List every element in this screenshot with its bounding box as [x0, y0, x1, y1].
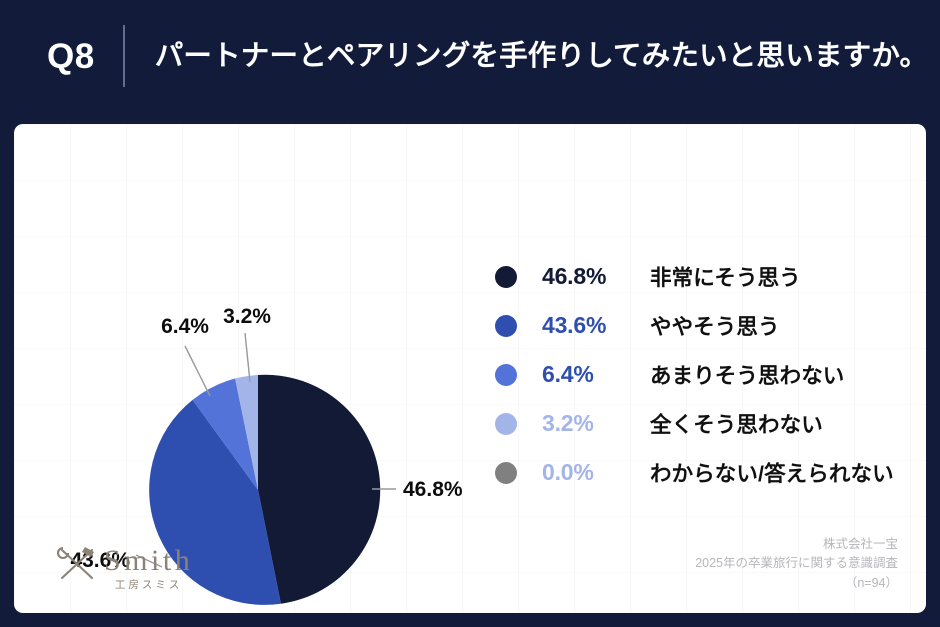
pie-slice-1 — [258, 375, 380, 604]
leader-line-not-much — [185, 346, 210, 396]
source-attribution: 株式会社一宝 2025年の卒業旅行に関する意識調査 （n=94） — [695, 535, 898, 593]
pie-value-label-not-much: 6.4% — [161, 315, 209, 338]
leader-line-not-at-all — [245, 333, 250, 382]
legend-item-not-at-all[interactable]: 3.2% 全くそう思わない — [495, 399, 915, 448]
legend-label: 非常にそう思う — [650, 261, 801, 292]
legend-item-dont-know[interactable]: 0.0% わからない/答えられない — [495, 448, 915, 497]
legend-percent: 3.2% — [542, 410, 650, 437]
legend-label: わからない/答えられない — [650, 457, 894, 488]
source-survey-name: 2025年の卒業旅行に関する意識調査 — [695, 554, 898, 573]
logo-text: Smith 工房スミス — [104, 546, 193, 592]
legend-percent: 43.6% — [542, 312, 650, 339]
legend-item-not-much[interactable]: 6.4% あまりそう思わない — [495, 350, 915, 399]
legend-label: ややそう思う — [650, 310, 780, 341]
legend-percent: 6.4% — [542, 361, 650, 388]
legend-swatch-icon — [495, 364, 517, 386]
source-company: 株式会社一宝 — [695, 535, 898, 554]
legend-swatch-icon — [495, 462, 517, 484]
legend-item-somewhat[interactable]: 43.6% ややそう思う — [495, 301, 915, 350]
legend-item-very-much[interactable]: 46.8% 非常にそう思う — [495, 252, 915, 301]
content-card: 46.8% 43.6% 6.4% 3.2% 46.8% 非常にそう思う 43.6… — [14, 124, 926, 613]
legend-swatch-icon — [495, 315, 517, 337]
chart-legend: 46.8% 非常にそう思う 43.6% ややそう思う 6.4% あまりそう思わな… — [495, 252, 915, 497]
question-number: Q8 — [47, 39, 95, 74]
crossed-tools-icon — [54, 538, 100, 589]
pie-value-label-not-at-all: 3.2% — [223, 305, 271, 328]
legend-percent: 46.8% — [542, 263, 650, 290]
source-sample-size: （n=94） — [695, 574, 898, 593]
logo-wordmark: Smith — [104, 546, 193, 576]
legend-label: あまりそう思わない — [650, 359, 844, 390]
header-divider — [123, 25, 125, 87]
page-header: Q8 パートナーとペアリングを手作りしてみたいと思いますか。 — [0, 0, 940, 112]
logo-subtitle: 工房スミス — [115, 581, 183, 592]
legend-swatch-icon — [495, 413, 517, 435]
page-title: パートナーとペアリングを手作りしてみたいと思いますか。 — [155, 40, 928, 73]
legend-swatch-icon — [495, 266, 517, 288]
legend-label: 全くそう思わない — [650, 408, 823, 439]
brand-logo: Smith 工房スミス — [54, 538, 193, 591]
legend-percent: 0.0% — [542, 459, 650, 486]
pie-value-label-very-much: 46.8% — [403, 478, 463, 501]
